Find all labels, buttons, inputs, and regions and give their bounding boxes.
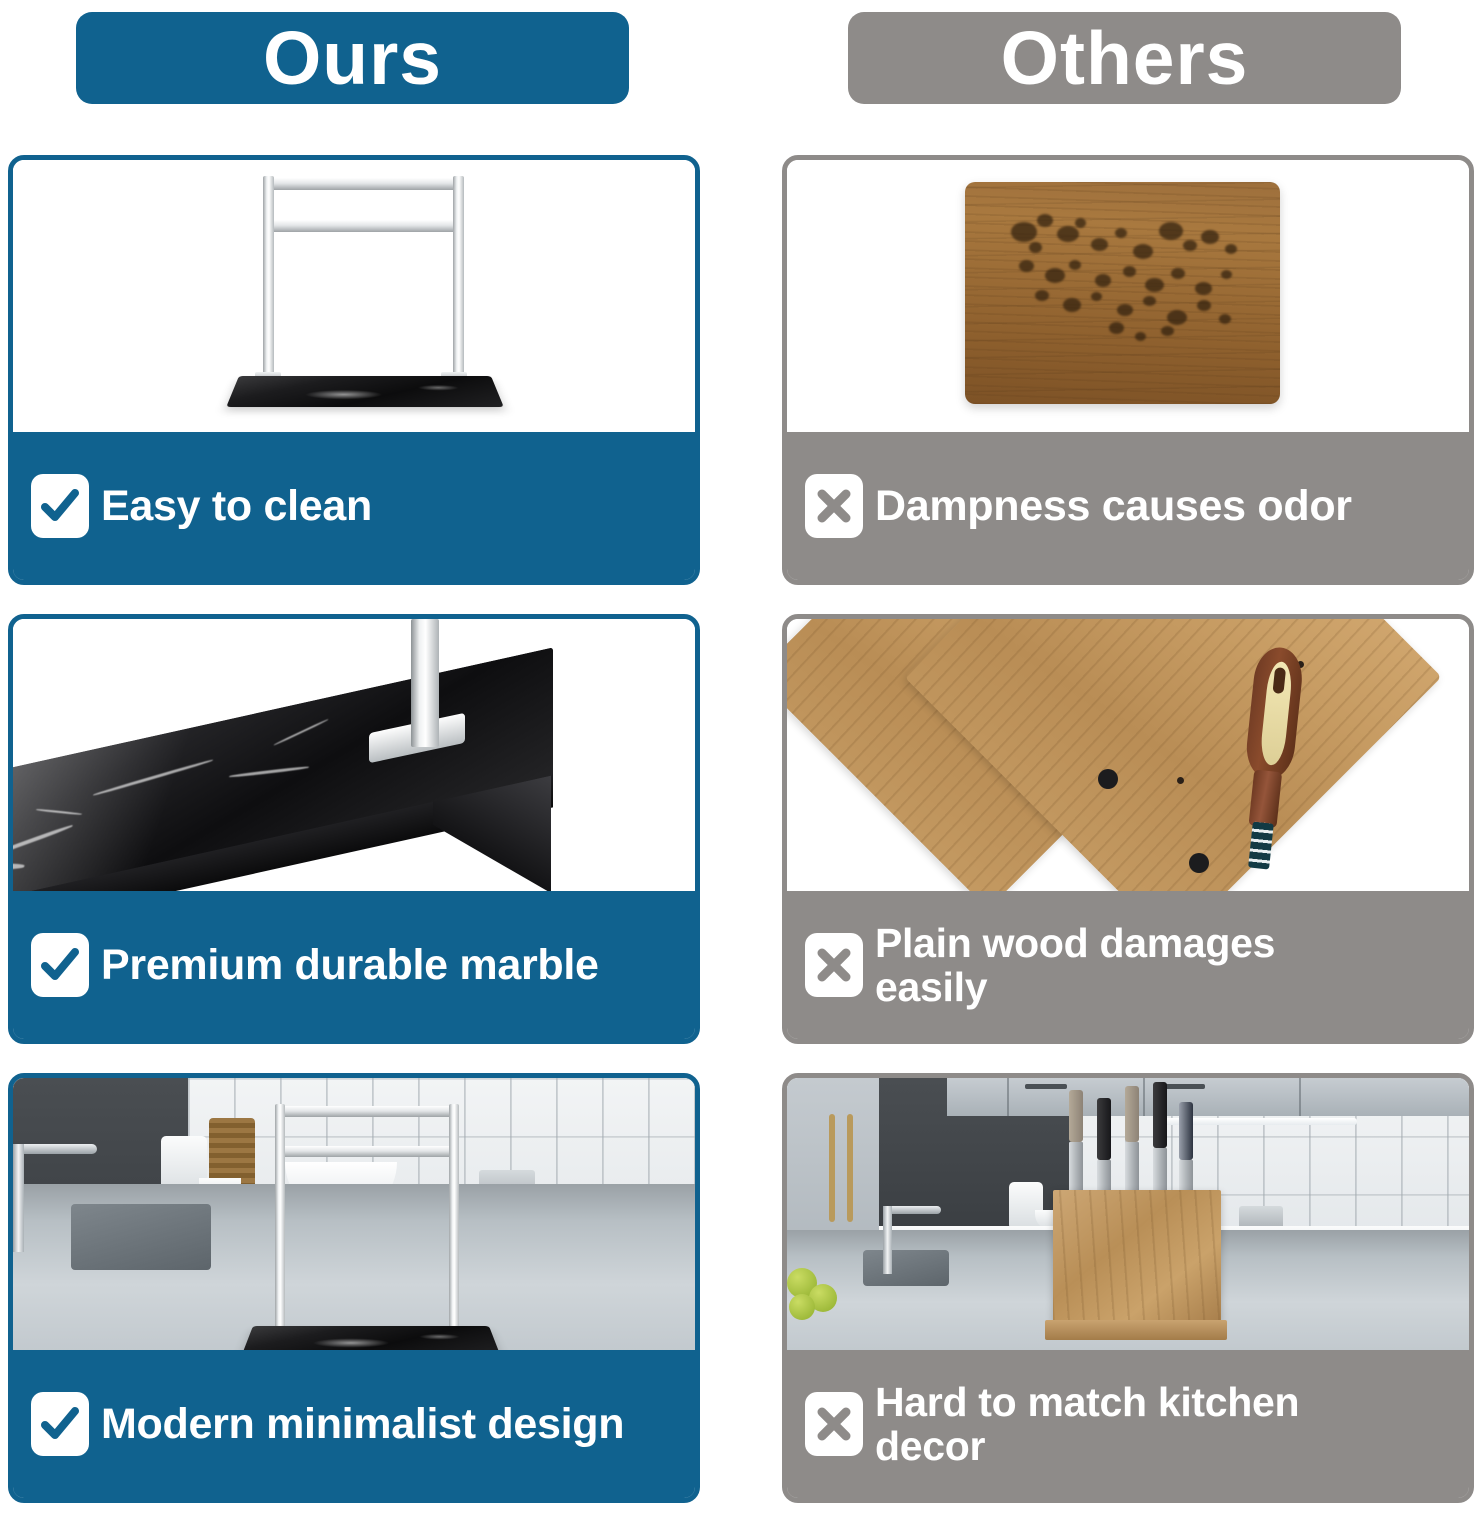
knife [1179,1102,1193,1202]
kitchen-sink [71,1204,211,1270]
others-card-row3: Hard to match kitchen decor [782,1073,1474,1503]
others-label-bar-row2: Plain wood damages easily [787,891,1469,1039]
board-hole-small [1177,777,1184,784]
others-image-row1 [787,160,1469,432]
knife-block-base [1045,1320,1227,1340]
others-feature-label: Plain wood damages easily [875,921,1275,1010]
check-icon [31,1392,89,1456]
ours-banner-label: Ours [263,21,442,96]
ours-card-row3: Modern minimalist design [8,1073,700,1503]
others-feature-label: Dampness causes odor [875,483,1352,529]
ours-card-row1: Easy to clean [8,155,700,585]
board-hole [1098,769,1118,789]
others-feature-label-line1: Plain wood damages [875,920,1275,966]
rack-post-right [449,1104,459,1342]
moldy-cutting-board [965,182,1280,404]
faucet-arm [13,1144,97,1154]
ours-feature-label: Easy to clean [101,483,372,529]
knife [1069,1090,1083,1200]
towel-rack [245,176,495,424]
faucet-stem [13,1144,24,1252]
wood-boards-illustration [787,619,1469,891]
rack-bar-top [263,178,464,190]
comparison-infographic: Ours Others [0,0,1478,1492]
tool-neck [1248,769,1282,828]
others-feature-label-line2: decor [875,1423,985,1469]
ours-image-row3 [13,1078,695,1352]
kitchen-sink [863,1250,949,1286]
tool-head [1244,645,1306,781]
tool-shaft [1248,822,1274,870]
others-card-row1: Dampness causes odor [782,155,1474,585]
others-label-bar-row3: Hard to match kitchen decor [787,1350,1469,1498]
towel-rack-illustration [13,160,695,434]
ours-label-bar-row3: Modern minimalist design [13,1350,695,1498]
others-feature-label-line1: Hard to match kitchen [875,1379,1299,1425]
board-hole [1189,853,1209,873]
ours-card-row2: Premium durable marble [8,614,700,1044]
knife-block-body [1053,1190,1221,1322]
rack-bar-middle [275,1146,459,1157]
knife [1153,1082,1167,1202]
ours-image-row2 [13,619,695,893]
ours-feature-label: Modern minimalist design [101,1401,624,1447]
knife [1097,1098,1111,1202]
others-image-row2 [787,619,1469,891]
others-label-bar-row1: Dampness causes odor [787,432,1469,580]
rack-bar-top [275,1106,459,1117]
knife [1125,1086,1139,1202]
comparison-grid: Easy to clean [0,155,1478,1518]
others-feature-label: Hard to match kitchen decor [875,1380,1299,1469]
cross-icon [805,1392,863,1456]
tool-slot [1259,660,1294,766]
cross-icon [805,474,863,538]
rack-post-right [453,176,464,398]
marble-base [226,376,504,407]
fruit [789,1294,815,1320]
comparison-row: Premium durable marble [0,614,1478,1059]
others-image-row3 [787,1078,1469,1350]
rack-post-left [263,176,274,398]
others-feature-label-line2: easily [875,964,987,1010]
cross-icon [805,933,863,997]
ours-label-bar-row1: Easy to clean [13,432,695,580]
others-card-row2: Plain wood damages easily [782,614,1474,1044]
wooden-knife-block [1045,1174,1227,1350]
upper-cabinets [947,1078,1469,1116]
modern-kitchen-scene [13,1078,695,1352]
ours-banner: Ours [76,12,629,104]
ours-feature-label: Premium durable marble [101,942,599,988]
faucet-stem [883,1206,892,1274]
others-banner-label: Others [1001,21,1249,96]
rack-bar-middle [263,220,464,232]
check-icon [31,474,89,538]
towel-rack [261,1104,485,1352]
comparison-row: Easy to clean [0,155,1478,600]
kitchen-with-knife-block-scene [787,1078,1469,1350]
marble-slab-illustration [13,619,695,893]
rack-post [411,619,439,747]
comparison-row: Modern minimalist design [0,1073,1478,1518]
moldy-board-illustration [787,160,1469,432]
ours-image-row1 [13,160,695,434]
check-icon [31,933,89,997]
ours-label-bar-row2: Premium durable marble [13,891,695,1039]
others-banner: Others [848,12,1401,104]
rack-post-left [275,1104,285,1342]
header-row: Ours Others [0,0,1478,130]
marble-base [242,1326,500,1352]
